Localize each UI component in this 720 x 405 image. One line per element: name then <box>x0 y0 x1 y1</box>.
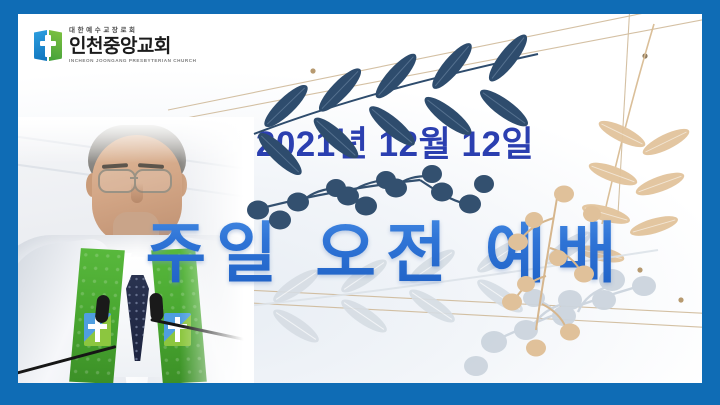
microphone-icon <box>149 293 164 322</box>
church-name-korean: 인천중앙교회 <box>69 37 197 56</box>
dot-icon <box>310 68 315 73</box>
dot-icon <box>678 297 683 302</box>
broadcast-overlay: 2021년 12월 12일 주일 오전 예배 <box>0 0 720 405</box>
dot-icon <box>642 53 647 58</box>
service-title: 주일 오전 예배 <box>18 200 702 296</box>
church-name-english: INCHEON JOONGANG PRESBYTERIAN CHURCH <box>69 59 197 64</box>
service-date: 2021년 12월 12일 <box>18 116 702 167</box>
church-logo: 대한예수교장로회 인천중앙교회 INCHEON JOONGANG PRESBYT… <box>34 28 197 63</box>
open-book-cross-icon <box>34 30 62 61</box>
white-card: 2021년 12월 12일 주일 오전 예배 <box>18 14 702 383</box>
denomination-text: 대한예수교장로회 <box>69 28 197 35</box>
